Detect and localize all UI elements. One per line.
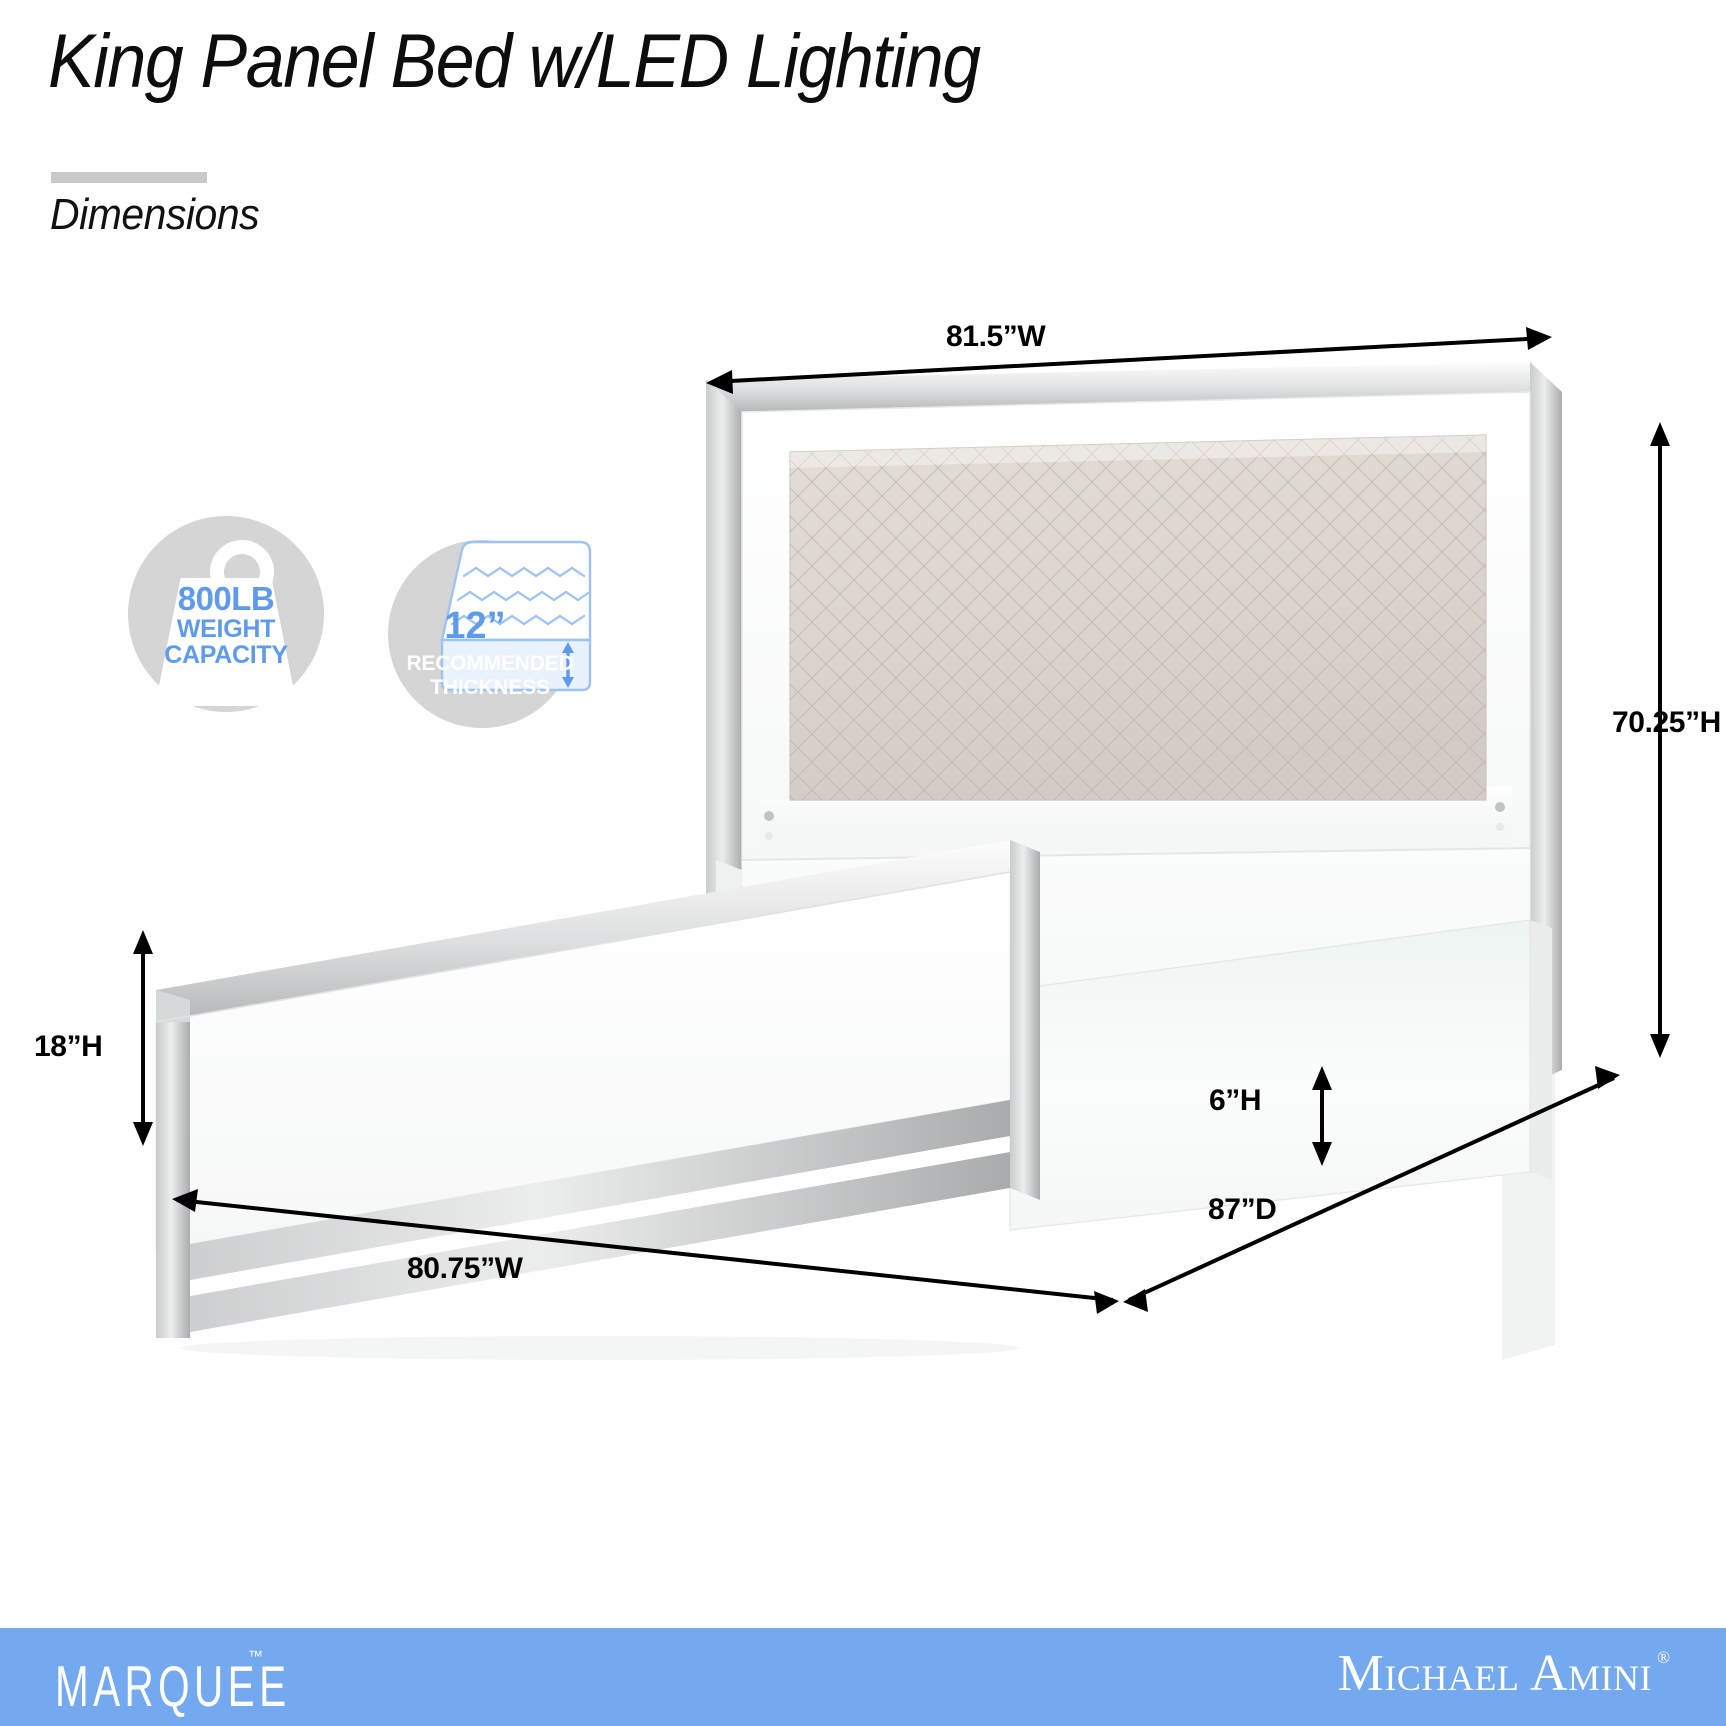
dimension-label-height-right: 70.25”H	[1612, 706, 1721, 740]
dimension-label-height-left: 18”H	[34, 1030, 102, 1064]
side-rail-right-edge	[1530, 920, 1552, 1180]
floor-shadow	[180, 1336, 1020, 1360]
headboard-upholstery-panel	[790, 435, 1486, 800]
dimension-label-height-rail: 6”H	[1209, 1084, 1261, 1118]
headboard-fastener-left-2	[765, 832, 773, 840]
headboard-fastener-right-2	[1496, 823, 1504, 831]
dimension-label-width-bottom: 80.75”W	[407, 1252, 523, 1286]
mattress-label-line2: THICKNESS	[380, 676, 600, 700]
marquee-trademark-mark: ™	[248, 1648, 263, 1665]
bed-product-illustration	[0, 300, 1726, 1400]
mattress-thickness-value: 12”	[420, 605, 530, 648]
dimension-label-width-top: 81.5”W	[946, 320, 1045, 354]
footboard-right-post	[1010, 840, 1040, 1200]
title-divider	[51, 172, 207, 183]
headboard-fastener-left	[764, 811, 774, 821]
dimension-label-depth: 87”D	[1208, 1193, 1276, 1227]
headboard-fastener-right	[1495, 802, 1505, 812]
mattress-badge-text: RECOMMENDED THICKNESS	[380, 652, 600, 699]
mattress-label-line1: RECOMMENDED	[380, 652, 600, 676]
page-title: King Panel Bed w/LED Lighting	[48, 18, 980, 105]
footboard-left-post	[156, 990, 190, 1338]
michael-amini-registered-mark: ®	[1657, 1648, 1670, 1668]
section-subtitle: Dimensions	[50, 190, 259, 240]
michael-amini-brand-logo: Michael Amini	[1338, 1644, 1652, 1703]
dimension-spec-sheet: King Panel Bed w/LED Lighting Dimensions…	[0, 0, 1726, 1726]
